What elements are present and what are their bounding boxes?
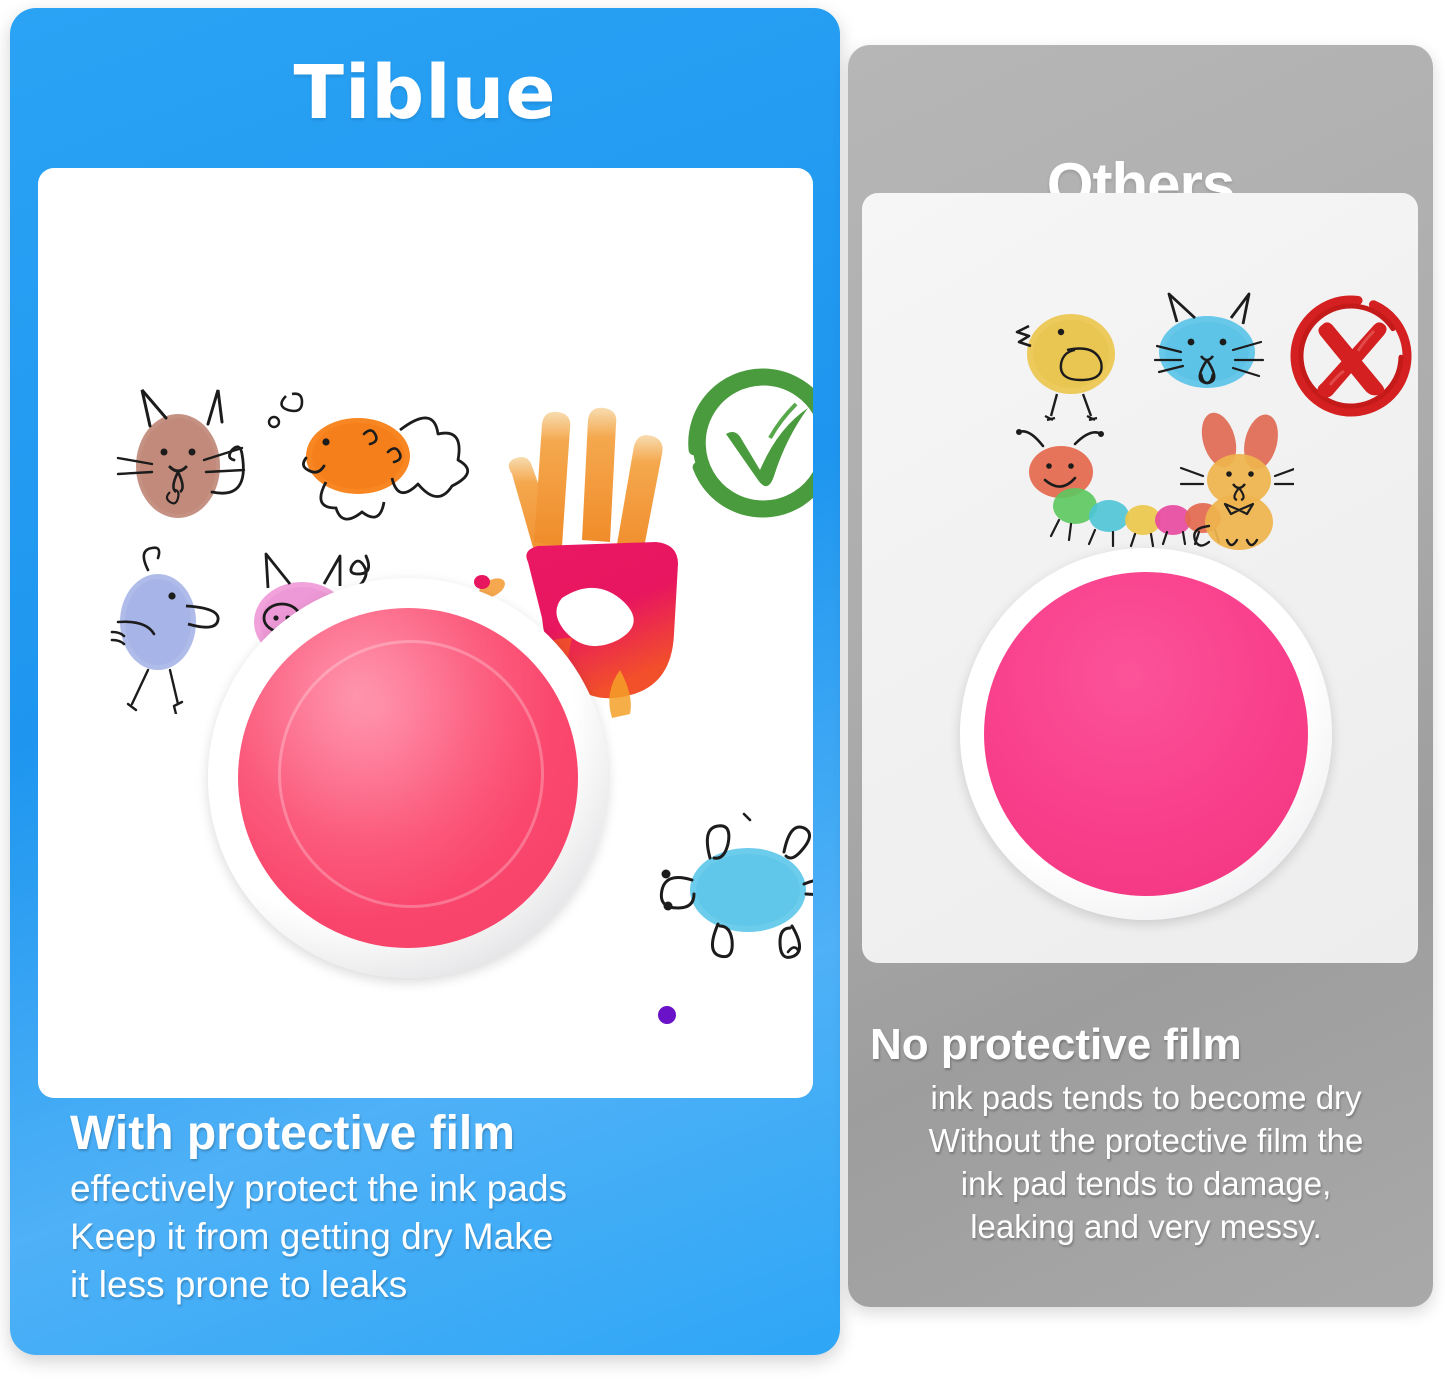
others-body-line-1: ink pads tends to become dry [870, 1076, 1422, 1119]
green-check-circle-icon [684, 364, 813, 522]
tiblue-headline: With protective film [70, 1106, 790, 1161]
protective-film-ring [278, 640, 544, 908]
red-x-circle-icon [1286, 291, 1416, 421]
ink-pad-surface-right [984, 572, 1308, 896]
infographic-stage: Tiblue [0, 0, 1445, 1400]
tiblue-body-line-3: it less prone to leaks [70, 1261, 790, 1309]
tiblue-text-block: With protective film effectively protect… [70, 1106, 790, 1309]
fingerprint-caterpillar-icon [1016, 429, 1221, 546]
fingerprint-cat-icon-right [1155, 294, 1263, 388]
others-panel: Others [848, 45, 1433, 1307]
fingerprint-chick-icon [1017, 314, 1115, 420]
tiblue-panel: Tiblue [10, 8, 840, 1355]
fingerprint-cat-icon [118, 390, 244, 518]
fingerprint-fish-icon [269, 394, 468, 519]
fingerprint-animals-group-right [1009, 290, 1294, 565]
fingerprint-turtle-icon [648, 802, 813, 982]
brand-title: Tiblue [10, 50, 840, 136]
fingerprint-bunny-icon [1181, 409, 1294, 550]
others-body-line-3: ink pad tends to damage, [870, 1162, 1422, 1205]
ink-pad-with-film [208, 578, 608, 978]
others-body-line-2: Without the protective film the [870, 1119, 1422, 1162]
fingerprint-bird-icon [112, 548, 218, 714]
others-headline: No protective film [870, 1020, 1422, 1070]
tiblue-body-line-2: Keep it from getting dry Make [70, 1213, 790, 1261]
purple-ink-dot-icon [658, 1006, 676, 1024]
others-text-block: No protective film ink pads tends to bec… [870, 1020, 1422, 1248]
others-body-line-4: leaking and very messy. [870, 1205, 1422, 1248]
tiblue-body-line-1: effectively protect the ink pads [70, 1165, 790, 1213]
ink-pad-without-film [960, 548, 1332, 920]
